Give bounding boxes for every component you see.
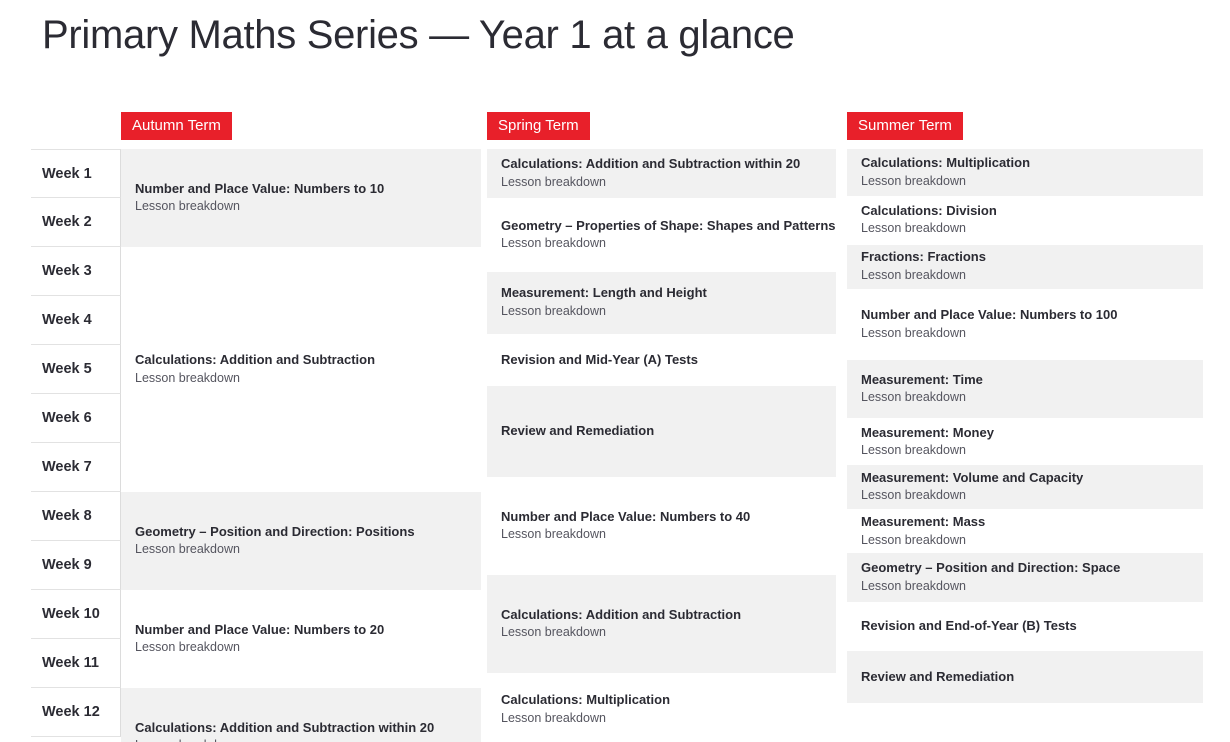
lesson-breakdown-link[interactable]: Lesson breakdown: [861, 220, 1189, 237]
unit-title: Geometry – Position and Direction: Space: [861, 560, 1189, 577]
unit-title: Revision and Mid-Year (A) Tests: [501, 352, 822, 369]
unit-title: Measurement: Mass: [861, 514, 1189, 531]
unit-block[interactable]: Number and Place Value: Numbers to 100Le…: [847, 289, 1203, 360]
unit-block[interactable]: Review and Remediation: [847, 651, 1203, 702]
unit-title: Review and Remediation: [861, 669, 1189, 686]
unit-title: Calculations: Multiplication: [861, 155, 1189, 172]
curriculum-overview-page: Primary Maths Series — Year 1 at a glanc…: [0, 0, 1230, 742]
lesson-breakdown-link[interactable]: Lesson breakdown: [501, 624, 822, 641]
lesson-breakdown-link[interactable]: Lesson breakdown: [861, 267, 1189, 284]
unit-block[interactable]: Calculations: MultiplicationLesson break…: [847, 149, 1203, 196]
unit-title: Geometry – Position and Direction: Posit…: [135, 524, 467, 541]
unit-title: Geometry – Properties of Shape: Shapes a…: [501, 218, 822, 235]
unit-block[interactable]: Calculations: Addition and SubtractionLe…: [487, 575, 836, 673]
unit-block[interactable]: Measurement: Length and HeightLesson bre…: [487, 272, 836, 334]
unit-block[interactable]: Measurement: Volume and CapacityLesson b…: [847, 465, 1203, 509]
unit-title: Calculations: Addition and Subtraction: [501, 607, 822, 624]
unit-block[interactable]: Number and Place Value: Numbers to 10Les…: [121, 149, 481, 247]
week-label: Week 4: [31, 296, 121, 345]
unit-title: Revision and End-of-Year (B) Tests: [861, 618, 1189, 635]
week-label: Week 8: [31, 492, 121, 541]
unit-title: Number and Place Value: Numbers to 100: [861, 307, 1189, 324]
unit-block[interactable]: Calculations: Addition and Subtraction w…: [121, 688, 481, 742]
unit-block[interactable]: Measurement: TimeLesson breakdown: [847, 360, 1203, 419]
lesson-breakdown-link[interactable]: Lesson breakdown: [135, 541, 467, 558]
lesson-breakdown-link[interactable]: Lesson breakdown: [861, 325, 1189, 342]
week-label: Week 5: [31, 345, 121, 394]
unit-title: Calculations: Multiplication: [501, 692, 822, 709]
week-label: Week 1: [31, 149, 121, 198]
unit-block[interactable]: Fractions: FractionsLesson breakdown: [847, 245, 1203, 289]
unit-block[interactable]: Calculations: MultiplicationLesson break…: [487, 673, 836, 742]
lesson-breakdown-link[interactable]: Lesson breakdown: [501, 235, 822, 252]
unit-title: Review and Remediation: [501, 423, 822, 440]
unit-title: Measurement: Volume and Capacity: [861, 470, 1189, 487]
unit-title: Number and Place Value: Numbers to 20: [135, 622, 467, 639]
term-header-autumn[interactable]: Autumn Term: [121, 112, 232, 140]
unit-block[interactable]: Calculations: Addition and Subtraction w…: [487, 149, 836, 198]
lesson-breakdown-link[interactable]: Lesson breakdown: [861, 442, 1189, 459]
unit-block[interactable]: Revision and Mid-Year (A) Tests: [487, 334, 836, 386]
unit-block[interactable]: Number and Place Value: Numbers to 20Les…: [121, 590, 481, 688]
lesson-breakdown-link[interactable]: Lesson breakdown: [135, 737, 467, 742]
unit-title: Fractions: Fractions: [861, 249, 1189, 266]
unit-title: Calculations: Addition and Subtraction: [135, 352, 467, 369]
term-header-spring[interactable]: Spring Term: [487, 112, 590, 140]
lesson-breakdown-link[interactable]: Lesson breakdown: [501, 174, 822, 191]
lesson-breakdown-link[interactable]: Lesson breakdown: [861, 173, 1189, 190]
unit-title: Measurement: Time: [861, 372, 1189, 389]
week-label: Week 10: [31, 590, 121, 639]
term-column-summer: Calculations: MultiplicationLesson break…: [847, 149, 1203, 742]
lesson-breakdown-link[interactable]: Lesson breakdown: [861, 532, 1189, 549]
week-label: Week 6: [31, 394, 121, 443]
term-header-summer[interactable]: Summer Term: [847, 112, 963, 140]
unit-block[interactable]: Measurement: MoneyLesson breakdown: [847, 418, 1203, 465]
week-label: Week 3: [31, 247, 121, 296]
unit-title: Measurement: Money: [861, 425, 1189, 442]
unit-title: Measurement: Length and Height: [501, 285, 822, 302]
lesson-breakdown-link[interactable]: Lesson breakdown: [135, 639, 467, 656]
unit-block[interactable]: Number and Place Value: Numbers to 40Les…: [487, 477, 836, 575]
week-label: Week 11: [31, 639, 121, 688]
lesson-breakdown-link[interactable]: Lesson breakdown: [501, 303, 822, 320]
unit-block[interactable]: Geometry – Properties of Shape: Shapes a…: [487, 198, 836, 272]
unit-block[interactable]: Calculations: Addition and SubtractionLe…: [121, 247, 481, 492]
lesson-breakdown-link[interactable]: Lesson breakdown: [861, 487, 1189, 504]
unit-block[interactable]: Review and Remediation: [487, 386, 836, 477]
lesson-breakdown-link[interactable]: Lesson breakdown: [501, 526, 822, 543]
week-label: Week 9: [31, 541, 121, 590]
unit-title: Number and Place Value: Numbers to 10: [135, 181, 467, 198]
unit-title: Calculations: Addition and Subtraction w…: [501, 156, 822, 173]
lesson-breakdown-link[interactable]: Lesson breakdown: [135, 370, 467, 387]
lesson-breakdown-link[interactable]: Lesson breakdown: [861, 578, 1189, 595]
week-label-column: Week 1Week 2Week 3Week 4Week 5Week 6Week…: [31, 149, 121, 737]
unit-title: Number and Place Value: Numbers to 40: [501, 509, 822, 526]
unit-block[interactable]: Geometry – Position and Direction: Space…: [847, 553, 1203, 602]
term-grid: Autumn Term Spring Term Summer Term Week…: [0, 110, 1230, 742]
term-column-autumn: Number and Place Value: Numbers to 10Les…: [121, 149, 481, 742]
unit-title: Calculations: Division: [861, 203, 1189, 220]
week-label: Week 12: [31, 688, 121, 737]
unit-block[interactable]: Calculations: DivisionLesson breakdown: [847, 196, 1203, 245]
week-label: Week 2: [31, 198, 121, 247]
unit-block[interactable]: Geometry – Position and Direction: Posit…: [121, 492, 481, 590]
unit-title: Calculations: Addition and Subtraction w…: [135, 720, 467, 737]
lesson-breakdown-link[interactable]: Lesson breakdown: [861, 389, 1189, 406]
unit-block[interactable]: Revision and End-of-Year (B) Tests: [847, 602, 1203, 651]
week-label: Week 7: [31, 443, 121, 492]
term-column-spring: Calculations: Addition and Subtraction w…: [487, 149, 836, 742]
unit-block[interactable]: Measurement: MassLesson breakdown: [847, 509, 1203, 553]
lesson-breakdown-link[interactable]: Lesson breakdown: [135, 198, 467, 215]
lesson-breakdown-link[interactable]: Lesson breakdown: [501, 710, 822, 727]
page-title: Primary Maths Series — Year 1 at a glanc…: [42, 13, 795, 58]
